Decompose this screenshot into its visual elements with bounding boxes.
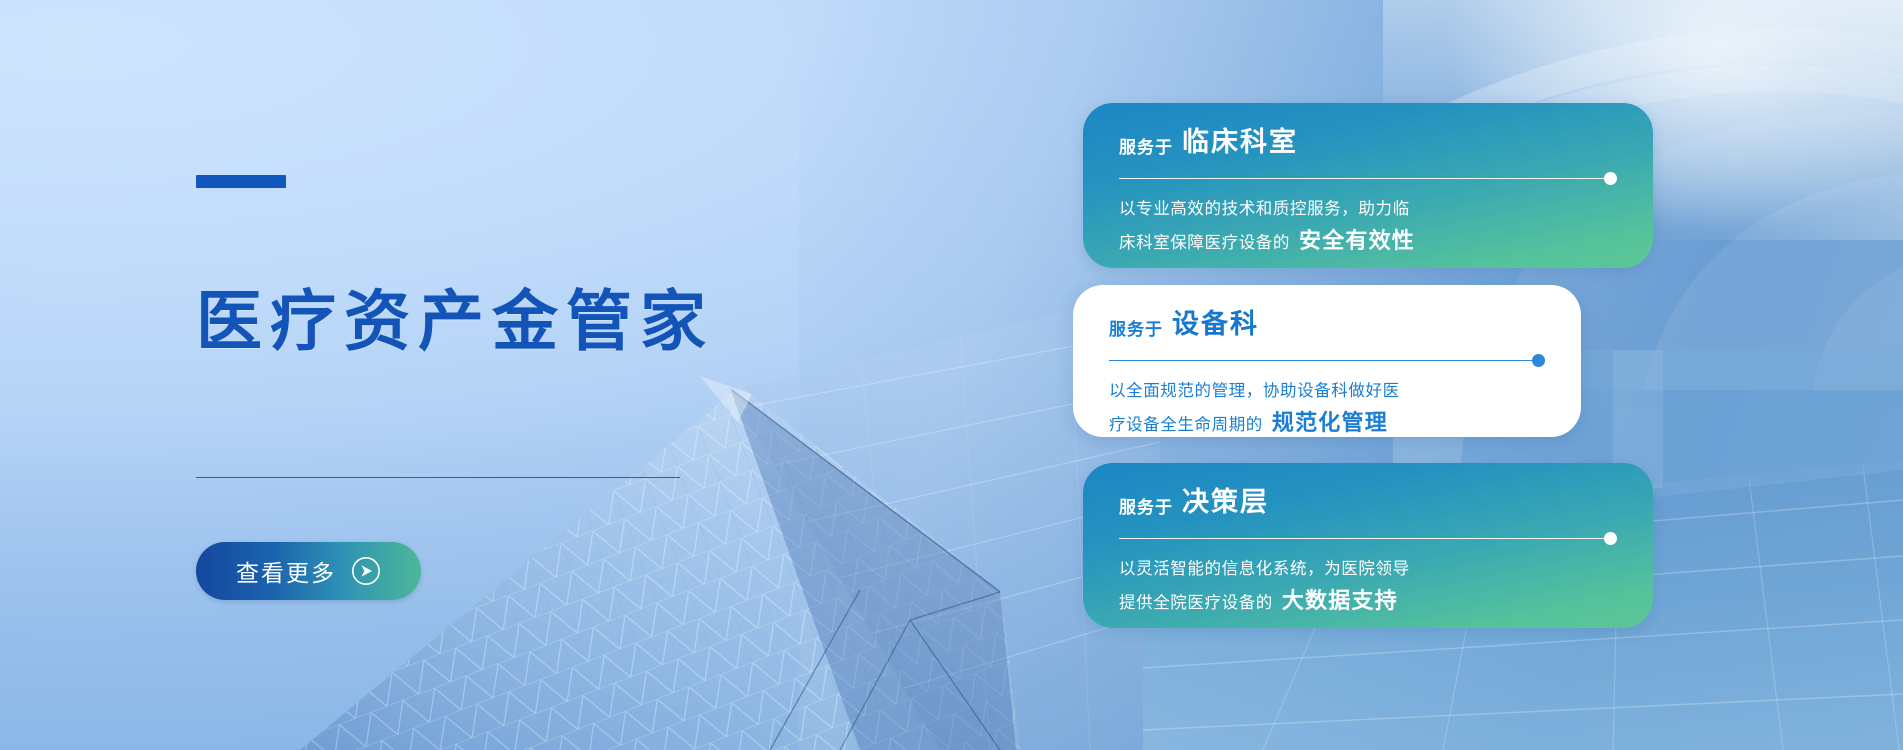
card-desc-line2: 床科室保障医疗设备的 (1119, 230, 1290, 257)
card-emphasis: 大数据支持 (1282, 583, 1398, 619)
card-audience: 决策层 (1182, 489, 1269, 516)
card-desc-line1: 以专业高效的技术和质控服务，助力临 (1119, 196, 1410, 223)
accent-dash-icon (196, 175, 286, 188)
hero-banner: 医疗资产金管家 查看更多 服务于 临床科室 以专业高效的技术和质 (0, 0, 1903, 750)
card-separator (1109, 353, 1545, 369)
separator-dot-icon (1604, 172, 1617, 185)
card-prefix: 服务于 (1119, 139, 1173, 156)
divider-rule (196, 477, 680, 478)
card-emphasis: 安全有效性 (1299, 223, 1415, 259)
hero-left-content: 医疗资产金管家 查看更多 (196, 0, 796, 750)
separator-line (1119, 178, 1605, 179)
card-title: 服务于 设备科 (1109, 311, 1545, 338)
card-desc-line2: 疗设备全生命周期的 (1109, 412, 1263, 437)
card-desc-line2: 提供全院医疗设备的 (1119, 590, 1273, 617)
card-description: 以专业高效的技术和质控服务，助力临 床科室保障医疗设备的 安全有效性 (1119, 196, 1617, 258)
separator-line (1119, 538, 1605, 539)
service-card-equipment[interactable]: 服务于 设备科 以全面规范的管理，协助设备科做好医 疗设备全生命周期的 规范化管… (1073, 285, 1581, 437)
service-cards: 服务于 临床科室 以专业高效的技术和质控服务，助力临 床科室保障医疗设备的 安全… (1073, 0, 1903, 750)
page-title: 医疗资产金管家 (196, 288, 714, 354)
service-card-clinical[interactable]: 服务于 临床科室 以专业高效的技术和质控服务，助力临 床科室保障医疗设备的 安全… (1083, 103, 1653, 268)
circle-arrow-right-icon (351, 556, 381, 586)
view-more-button[interactable]: 查看更多 (196, 542, 421, 600)
card-prefix: 服务于 (1109, 321, 1163, 338)
separator-line (1109, 360, 1533, 361)
card-title: 服务于 临床科室 (1119, 129, 1617, 156)
card-description: 以灵活智能的信息化系统，为医院领导 提供全院医疗设备的 大数据支持 (1119, 556, 1617, 618)
separator-dot-icon (1604, 532, 1617, 545)
service-card-decision[interactable]: 服务于 决策层 以灵活智能的信息化系统，为医院领导 提供全院医疗设备的 大数据支… (1083, 463, 1653, 628)
card-prefix: 服务于 (1119, 499, 1173, 516)
card-emphasis: 规范化管理 (1272, 405, 1388, 437)
card-title: 服务于 决策层 (1119, 489, 1617, 516)
card-description: 以全面规范的管理，协助设备科做好医 疗设备全生命周期的 规范化管理 (1109, 378, 1545, 437)
card-audience: 设备科 (1172, 311, 1259, 338)
card-separator (1119, 531, 1617, 547)
separator-dot-icon (1532, 354, 1545, 367)
card-separator (1119, 171, 1617, 187)
view-more-label: 查看更多 (236, 554, 336, 588)
card-desc-line1: 以灵活智能的信息化系统，为医院领导 (1119, 556, 1410, 583)
card-desc-line1: 以全面规范的管理，协助设备科做好医 (1109, 378, 1400, 405)
card-audience: 临床科室 (1182, 129, 1298, 156)
